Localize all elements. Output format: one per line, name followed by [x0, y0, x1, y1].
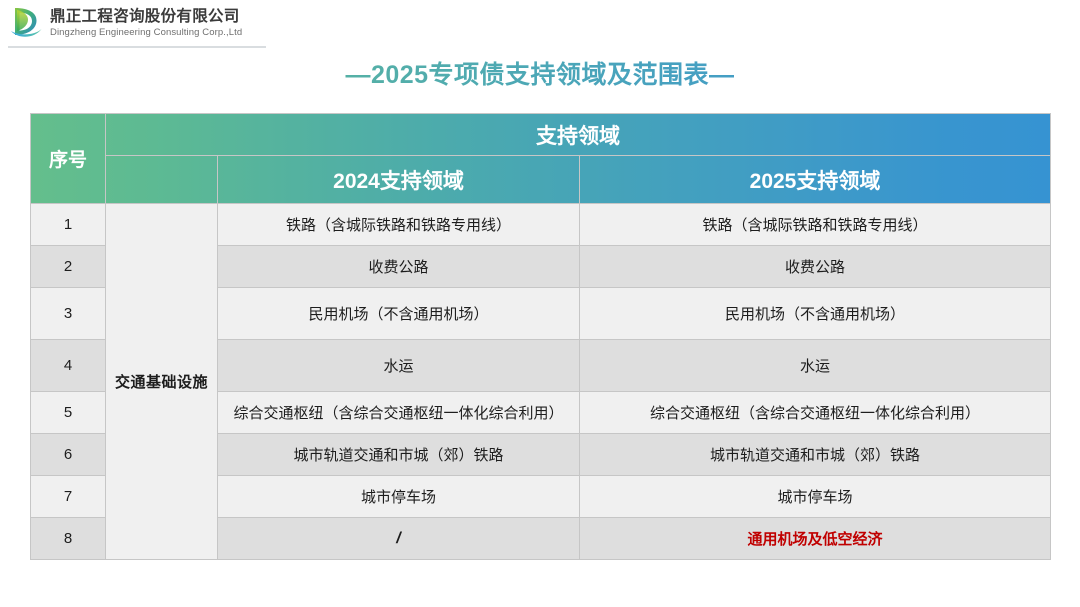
cell-2024: 铁路（含城际铁路和铁路专用线）	[218, 204, 580, 246]
company-name-en: Dingzheng Engineering Consulting Corp.,L…	[50, 26, 242, 39]
page-root: 鼎正工程咨询股份有限公司 Dingzheng Engineering Consu…	[0, 0, 1080, 607]
header-2025: 2025支持领域	[580, 156, 1051, 204]
cell-2025: 综合交通枢纽（含综合交通枢纽一体化综合利用）	[580, 392, 1051, 434]
cell-category: 交通基础设施	[106, 204, 218, 560]
cell-seq: 1	[31, 204, 106, 246]
support-areas-table: 序号 支持领域 2024支持领域 2025支持领域 1 交通基础设施 铁路（含城…	[30, 113, 1051, 560]
cell-2025: 城市停车场	[580, 476, 1051, 518]
cell-2025: 铁路（含城际铁路和铁路专用线）	[580, 204, 1051, 246]
cell-2024: 民用机场（不含通用机场）	[218, 288, 580, 340]
cell-2024: 城市轨道交通和市城（郊）铁路	[218, 434, 580, 476]
cell-2025: 民用机场（不含通用机场）	[580, 288, 1051, 340]
cell-2024: /	[218, 518, 580, 560]
table-row: 1 交通基础设施 铁路（含城际铁路和铁路专用线） 铁路（含城际铁路和铁路专用线）	[31, 204, 1051, 246]
page-title: —2025专项债支持领域及范围表—	[0, 55, 1080, 91]
cell-2025: 通用机场及低空经济	[580, 518, 1051, 560]
cell-2024: 城市停车场	[218, 476, 580, 518]
table-body: 1 交通基础设施 铁路（含城际铁路和铁路专用线） 铁路（含城际铁路和铁路专用线）…	[31, 204, 1051, 560]
cell-2025: 城市轨道交通和市城（郊）铁路	[580, 434, 1051, 476]
brand-text: 鼎正工程咨询股份有限公司 Dingzheng Engineering Consu…	[50, 7, 242, 39]
cell-seq: 3	[31, 288, 106, 340]
cell-2025: 水运	[580, 340, 1051, 392]
cell-seq: 4	[31, 340, 106, 392]
cell-2025: 收费公路	[580, 246, 1051, 288]
cell-seq: 5	[31, 392, 106, 434]
company-name-cn: 鼎正工程咨询股份有限公司	[50, 7, 242, 26]
header-2024: 2024支持领域	[218, 156, 580, 204]
cell-2024: 收费公路	[218, 246, 580, 288]
header-support-area: 支持领域	[106, 114, 1051, 156]
table-head: 序号 支持领域 2024支持领域 2025支持领域	[31, 114, 1051, 204]
cell-seq: 6	[31, 434, 106, 476]
cell-seq: 8	[31, 518, 106, 560]
cell-2024: 水运	[218, 340, 580, 392]
table-head-row-2: 2024支持领域 2025支持领域	[31, 156, 1051, 204]
company-logo-icon	[8, 4, 44, 42]
support-areas-table-wrap: 序号 支持领域 2024支持领域 2025支持领域 1 交通基础设施 铁路（含城…	[30, 113, 1050, 560]
cell-2024: 综合交通枢纽（含综合交通枢纽一体化综合利用）	[218, 392, 580, 434]
cell-seq: 7	[31, 476, 106, 518]
table-head-row-1: 序号 支持领域	[31, 114, 1051, 156]
header-category	[106, 156, 218, 204]
header-seq: 序号	[31, 114, 106, 204]
cell-seq: 2	[31, 246, 106, 288]
brand-header: 鼎正工程咨询股份有限公司 Dingzheng Engineering Consu…	[8, 4, 266, 48]
